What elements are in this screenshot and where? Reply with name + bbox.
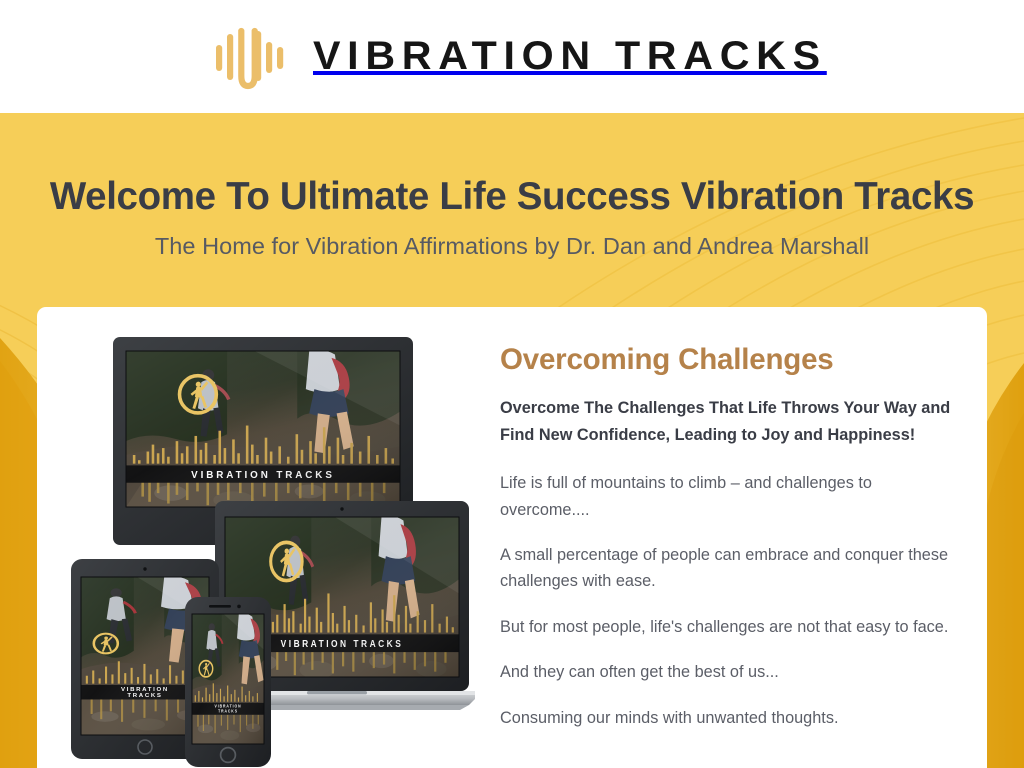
logo-wordmark: VIBRATION TRACKS	[313, 34, 827, 79]
site-logo-link[interactable]: VIBRATION TRACKS	[213, 20, 812, 94]
content-card: VIBRATION TRACKS	[37, 307, 987, 768]
waveform-logo-icon	[213, 20, 287, 94]
hero-text-block: Welcome To Ultimate Life Success Vibrati…	[0, 113, 1024, 260]
mockup-phone	[185, 597, 271, 767]
product-copy-column: Overcoming Challenges Overcome The Chall…	[477, 307, 987, 768]
page-subtitle: The Home for Vibration Affirmations by D…	[0, 233, 1024, 260]
body-paragraph: But for most people, life's challenges a…	[500, 614, 962, 640]
page-root: VIBRATION TRACKS	[0, 0, 1024, 768]
body-paragraph: A small percentage of people can embrace…	[500, 542, 962, 595]
body-paragraph: Consuming our minds with unwanted though…	[500, 705, 962, 731]
page-title: Welcome To Ultimate Life Success Vibrati…	[0, 175, 1024, 219]
body-paragraph: And they can often get the best of us...	[500, 659, 962, 685]
product-mockup-image: VIBRATION TRACKS	[55, 333, 475, 768]
product-mockup-column: VIBRATION TRACKS	[37, 307, 477, 768]
body-paragraph: Life is full of mountains to climb – and…	[500, 470, 962, 523]
section-heading: Overcoming Challenges	[500, 344, 987, 376]
site-header: VIBRATION TRACKS	[0, 0, 1024, 113]
lead-paragraph: Overcome The Challenges That Life Throws…	[500, 395, 962, 448]
